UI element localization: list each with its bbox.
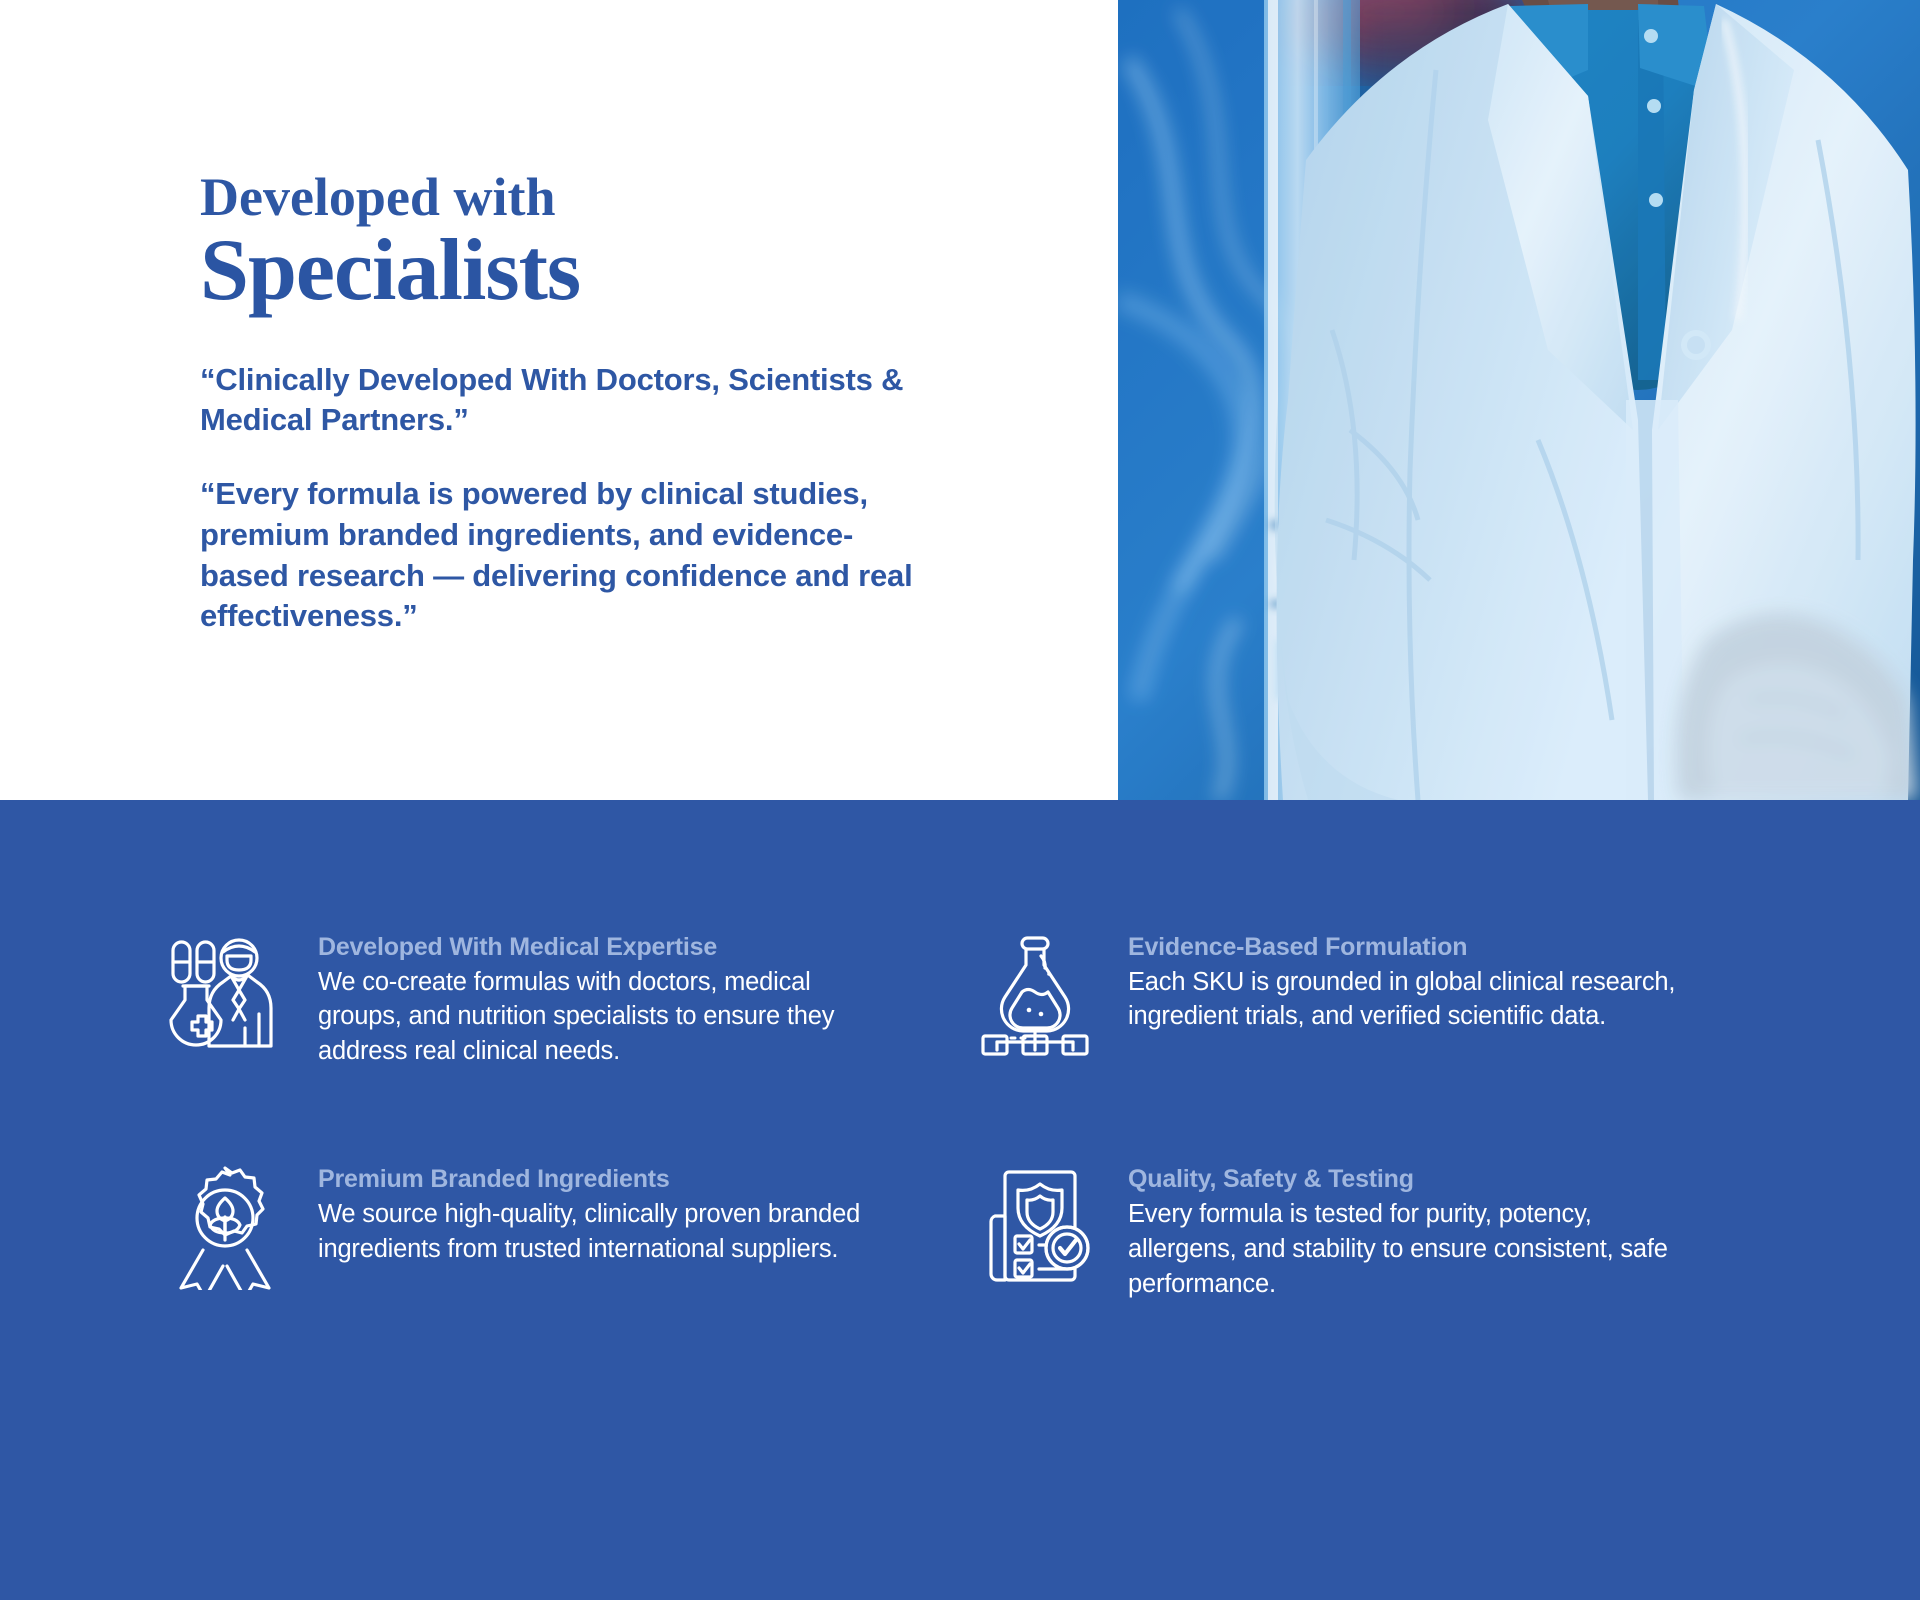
page-title: Specialists [200, 226, 1080, 316]
hero-copy: Developed with Specialists “Clinically D… [200, 170, 1080, 637]
feature-title: Evidence-Based Formulation [1128, 933, 1780, 963]
clipboard-shield-check-icon [970, 1161, 1100, 1291]
flask-network-icon [970, 929, 1100, 1059]
feature-card-medical-expertise: Developed With Medical Expertise We co-c… [160, 925, 970, 1069]
feature-text: Evidence-Based Formulation Each SKU is g… [1128, 925, 1780, 1034]
feature-body: We source high-quality, clinically prove… [318, 1197, 878, 1267]
feature-text: Quality, Safety & Testing Every formula … [1128, 1157, 1780, 1301]
feature-grid: Developed With Medical Expertise We co-c… [160, 925, 1780, 1302]
feature-body: We co-create formulas with doctors, medi… [318, 965, 878, 1070]
feature-body: Each SKU is grounded in global clinical … [1128, 965, 1698, 1035]
hero-quote-secondary: “Every formula is powered by clinical st… [200, 474, 930, 636]
feature-title: Premium Branded Ingredients [318, 1165, 970, 1195]
hero-quote-primary: “Clinically Developed With Doctors, Scie… [200, 360, 940, 441]
feature-card-evidence-based: Evidence-Based Formulation Each SKU is g… [970, 925, 1780, 1069]
feature-title: Quality, Safety & Testing [1128, 1165, 1780, 1195]
doctor-flask-pills-icon [160, 929, 290, 1059]
award-badge-leaf-icon [160, 1161, 290, 1291]
features-section: Developed With Medical Expertise We co-c… [0, 800, 1920, 1600]
hero-section: Developed with Specialists “Clinically D… [0, 0, 1920, 800]
feature-text: Developed With Medical Expertise We co-c… [318, 925, 970, 1069]
feature-card-premium-ingredients: Premium Branded Ingredients We source hi… [160, 1157, 970, 1301]
feature-title: Developed With Medical Expertise [318, 933, 970, 963]
hero-image [1118, 0, 1920, 800]
scientist-in-lab-coat-photo [1118, 0, 1920, 800]
feature-body: Every formula is tested for purity, pote… [1128, 1197, 1698, 1302]
feature-card-quality-safety: Quality, Safety & Testing Every formula … [970, 1157, 1780, 1301]
feature-text: Premium Branded Ingredients We source hi… [318, 1157, 970, 1266]
hero-eyebrow: Developed with [200, 170, 1080, 224]
